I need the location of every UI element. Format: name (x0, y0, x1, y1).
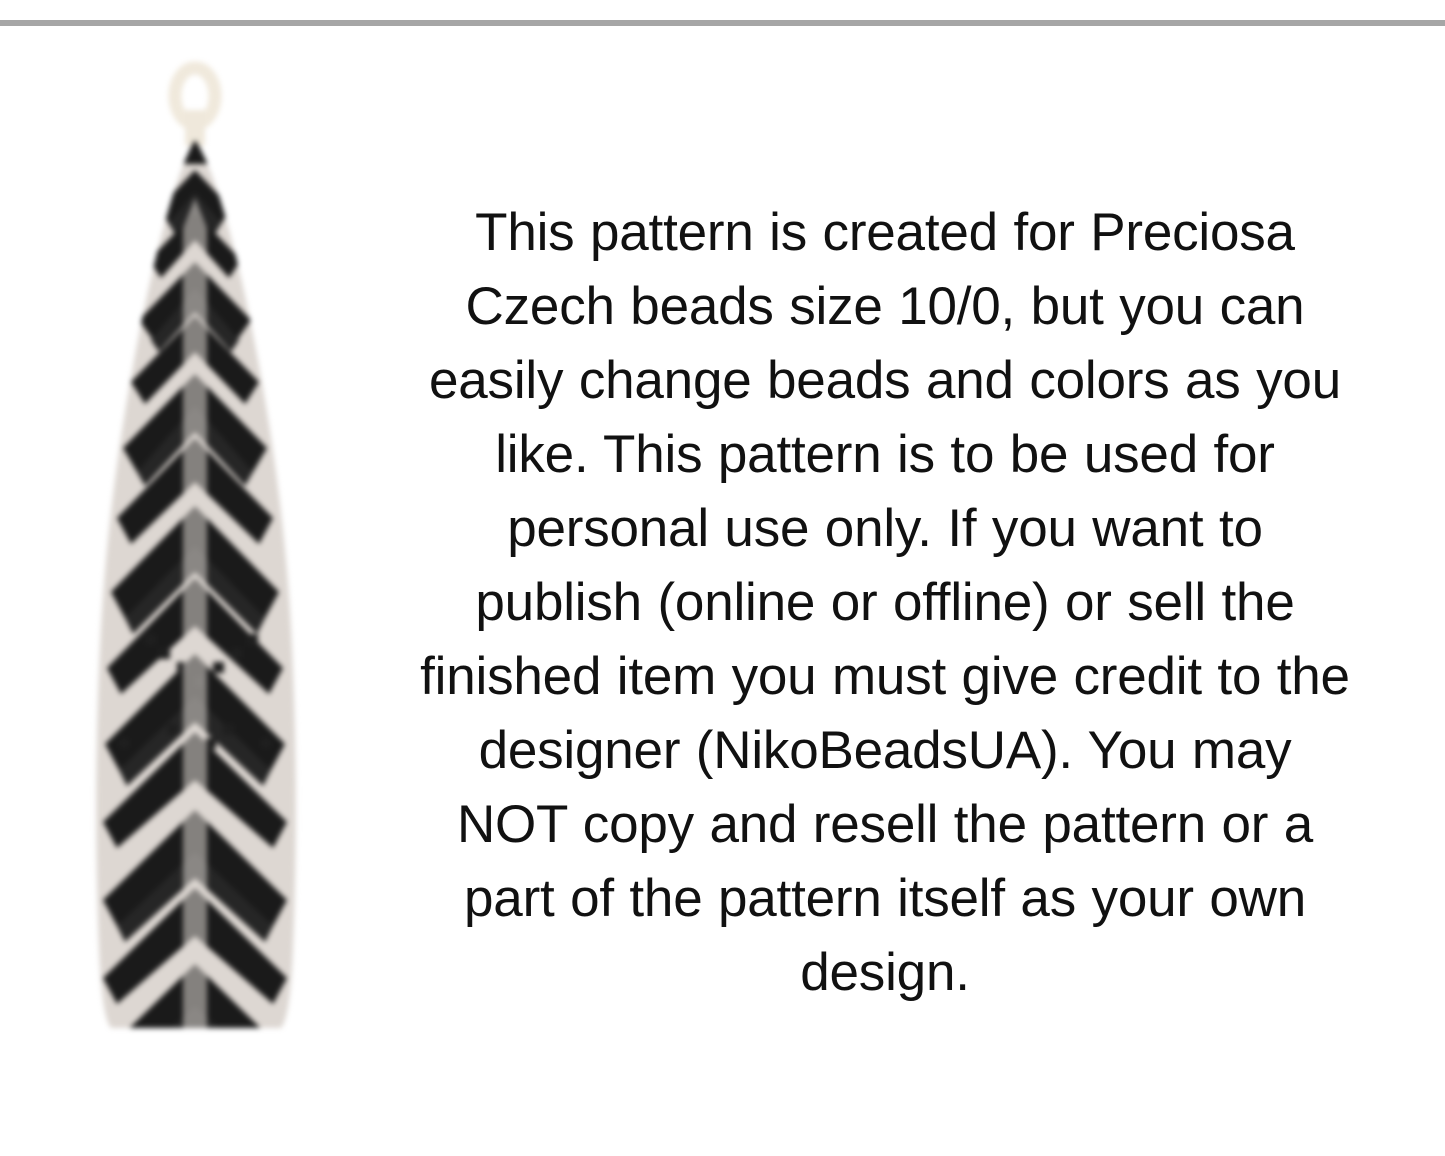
page-root: This pattern is created for Preciosa Cze… (0, 0, 1445, 1156)
pendant-illustration (55, 48, 335, 1038)
beaded-feather-pendant (55, 48, 335, 1038)
pattern-description: This pattern is created for Preciosa Cze… (420, 196, 1350, 1010)
top-horizontal-rule (0, 20, 1445, 26)
pattern-description-text: This pattern is created for Preciosa Cze… (420, 196, 1350, 1010)
pendant-loop-icon (175, 68, 215, 146)
